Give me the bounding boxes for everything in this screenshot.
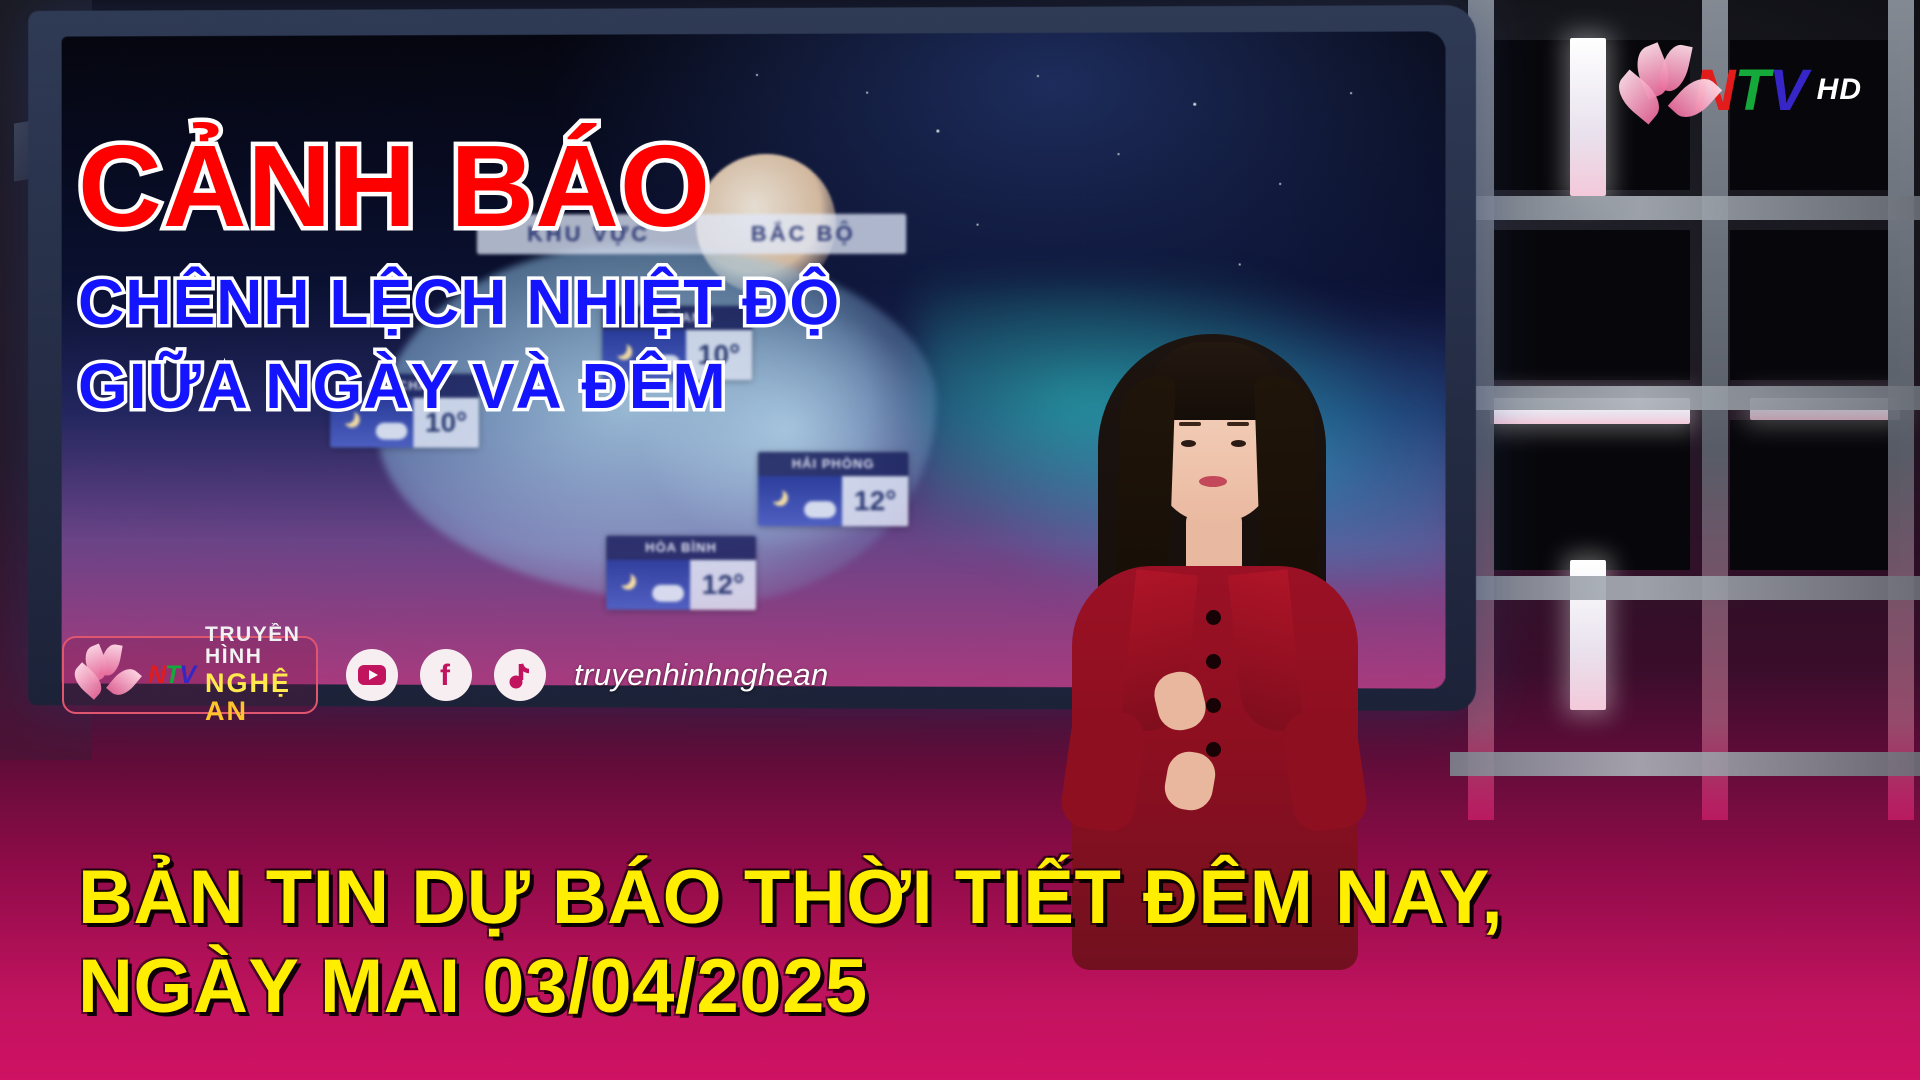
lotus-icon [76, 644, 138, 706]
city-temp: 12° [690, 560, 756, 610]
map-city-hoa-binh: HÒA BÌNH 12° [606, 536, 756, 610]
svg-text:f: f [440, 660, 451, 690]
map-city-hai-phong: HẢI PHÒNG 12° [758, 452, 908, 526]
hd-badge: HD [1817, 73, 1862, 107]
channel-bug: NTV HD [1622, 44, 1862, 136]
station-logo[interactable]: NTV TRUYỀN HÌNH NGHỆ AN [62, 636, 318, 714]
station-name-line2: NGHỆ [205, 668, 291, 698]
ntv-wordmark: NTV [148, 661, 195, 690]
weather-icon-night-cloud [606, 560, 690, 610]
social-handle: truyenhinhnghean [574, 657, 829, 693]
headline-line-3: GIỮA NGÀY VÀ ĐÊM [78, 354, 998, 418]
weather-icon-night-cloud [758, 476, 842, 526]
presenter-lips [1199, 476, 1227, 487]
youtube-icon[interactable] [346, 649, 398, 701]
city-name: HÒA BÌNH [606, 536, 756, 560]
city-name: HẢI PHÒNG [758, 452, 908, 476]
facebook-icon[interactable]: f [420, 649, 472, 701]
lotus-icon [1622, 44, 1684, 136]
headline-line-2: CHÊNH LỆCH NHIỆT ĐỘ [78, 270, 998, 334]
caption-line-1: BẢN TIN DỰ BÁO THỜI TIẾT ĐÊM NAY, [78, 853, 1838, 943]
channel-bar: NTV TRUYỀN HÌNH NGHỆ AN f [62, 636, 829, 714]
tiktok-icon[interactable] [494, 649, 546, 701]
broadcast-graphic: KHU VỰC BẮC BỘ LAI CHÂU 10° HÀ GIANG 10°… [0, 0, 1920, 1080]
caption-block: BẢN TIN DỰ BÁO THỜI TIẾT ĐÊM NAY, NGÀY M… [78, 853, 1838, 1032]
station-name-accent: AN [205, 696, 248, 726]
headline-line-1: CẢNH BÁO [78, 128, 998, 244]
headline-block: CẢNH BÁO CHÊNH LỆCH NHIỆT ĐỘ GIỮA NGÀY V… [78, 128, 998, 418]
city-temp: 12° [842, 476, 908, 526]
station-name-line1: TRUYỀN HÌNH [205, 624, 304, 669]
caption-line-2: NGÀY MAI 03/04/2025 [78, 942, 1838, 1032]
social-icons: f [346, 649, 546, 701]
